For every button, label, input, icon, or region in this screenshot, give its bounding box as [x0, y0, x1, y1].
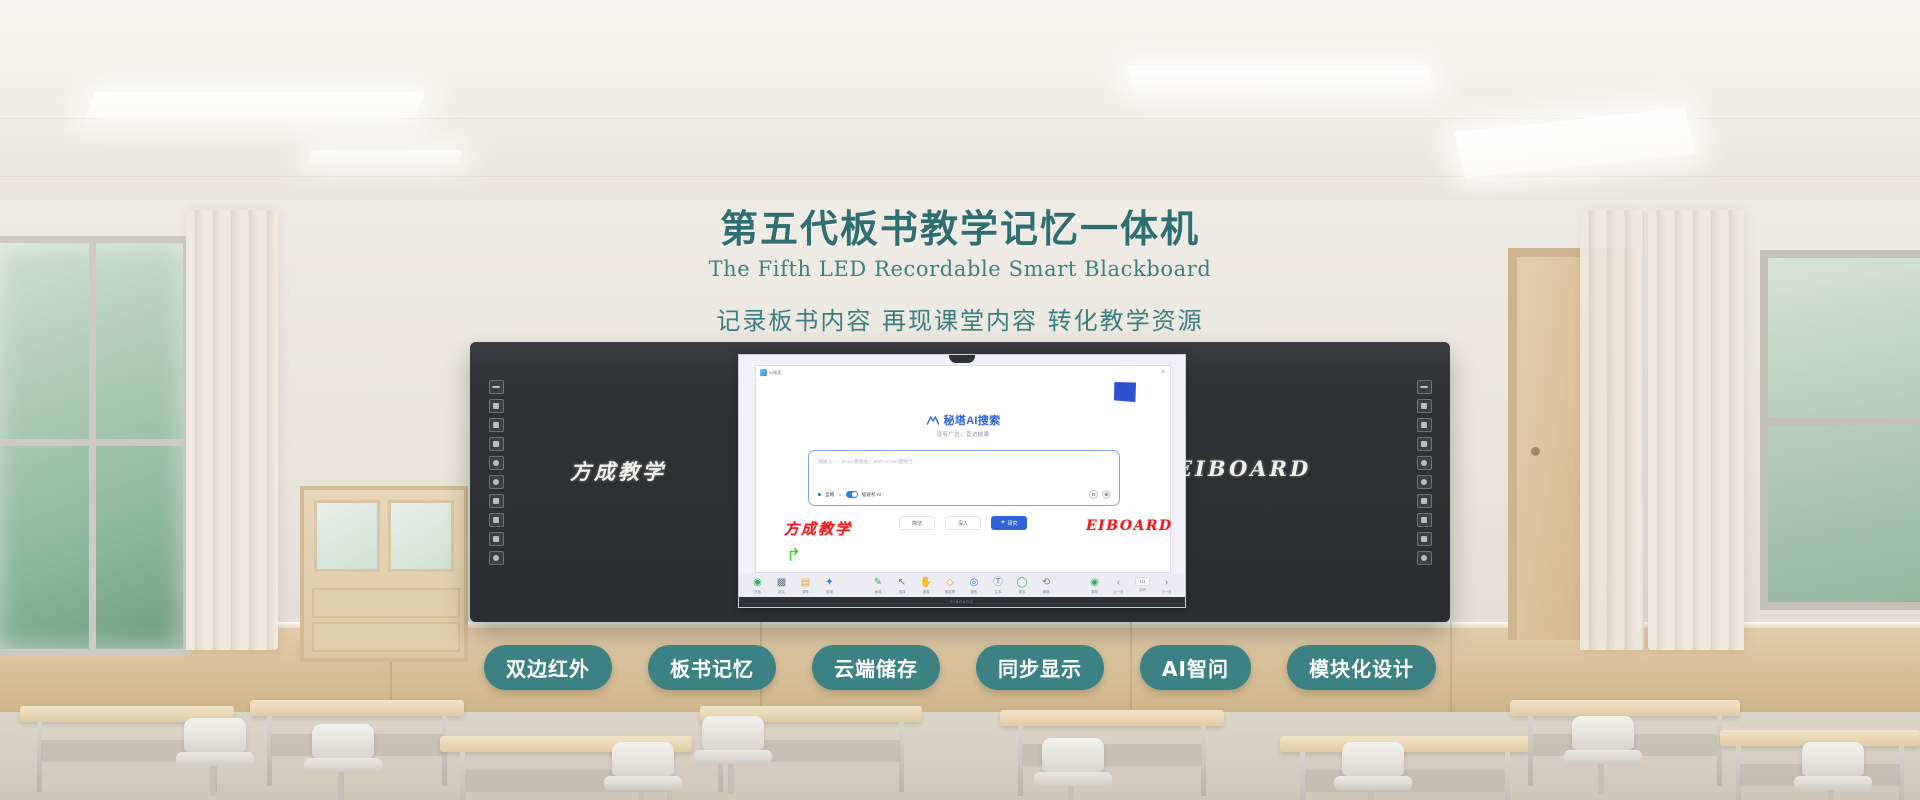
window-left [0, 236, 190, 656]
mode-button-research[interactable]: ✦ 研究 [991, 516, 1027, 530]
more-icon: ◯ [1016, 577, 1027, 588]
feature-pill-board-memory[interactable]: 板书记忆 [648, 645, 776, 690]
tool-record[interactable]: ◉ 录制 [1086, 577, 1103, 594]
chevron-down-icon[interactable]: ∨ [838, 492, 841, 498]
hand-icon: ✋ [920, 577, 932, 588]
feature-pill-cloud-storage[interactable]: 云端储存 [812, 645, 940, 690]
brand-tagline: 没有广告，直达结果 [756, 430, 1170, 438]
tool-label: 文本 [995, 589, 1002, 594]
camera-icon[interactable] [1089, 490, 1098, 499]
mode-button-research-label: 研究 [1008, 520, 1018, 527]
tool-eraser[interactable]: ◇ 橡皮擦 [942, 577, 959, 594]
tool-pen[interactable]: ✎ 画笔 [870, 577, 887, 594]
tool-label: 图形 [971, 589, 978, 594]
record-icon[interactable] [489, 456, 504, 470]
tool-annotate[interactable]: ▩ 批注 [773, 577, 790, 594]
tool-whiteboard[interactable]: ◉ 白板 [749, 577, 766, 594]
shape-icon: ◎ [970, 577, 979, 588]
browser-titlebar: AI搜索 × [756, 366, 1170, 379]
tool-label: 撤销 [1043, 589, 1050, 594]
tool-label: 录制 [1091, 589, 1098, 594]
tool-shape[interactable]: ◎ 图形 [966, 577, 983, 594]
red-annotation-cn: 方成教学 [784, 518, 852, 539]
page-indicator: 1/1 页码 [1134, 577, 1151, 592]
text-icon: Ⓣ [993, 577, 1003, 588]
tool-label: 批注 [778, 589, 785, 594]
scope-selector-label[interactable]: 全网 [825, 492, 834, 498]
pen-icon: ✎ [874, 577, 882, 588]
brand-name: 秘塔AI搜索 [944, 412, 1001, 428]
cursor-icon: ↖ [898, 577, 906, 588]
curtain-right [1648, 210, 1744, 650]
search-input[interactable]: 请输入…，Enter键发送，Shift+Enter键换行 全网 ∨ 极速考·AI [808, 450, 1120, 506]
tool-label: 漫游 [923, 589, 930, 594]
page-icon[interactable] [1417, 437, 1432, 451]
tool-label: 课件 [802, 589, 809, 594]
app-chip: AI搜索 [760, 369, 782, 376]
tool-label: 画笔 [875, 589, 882, 594]
chevron-right-icon: › [1165, 577, 1168, 588]
pen-alt-icon[interactable] [1417, 418, 1432, 432]
stop-icon[interactable] [489, 494, 504, 508]
record-alt-icon[interactable] [489, 475, 504, 489]
sparkle-icon: ✦ [1000, 520, 1005, 526]
blue-annotation-shape [1114, 382, 1136, 402]
apps-icon: ✦ [825, 577, 833, 588]
side-button-strip-left[interactable] [486, 380, 506, 565]
power-icon[interactable] [489, 551, 504, 565]
eraser-icon: ◇ [946, 577, 954, 588]
app-chip-label: AI搜索 [769, 370, 782, 376]
ceiling [0, 0, 1920, 230]
side-button-strip-right[interactable] [1414, 380, 1434, 565]
tool-label: 应用 [826, 589, 833, 594]
browser-window[interactable]: AI搜索 × 秘塔AI搜索 没有广告，直达结果 请输入…，Enter键发送，Sh… [755, 365, 1171, 573]
window-right [1760, 250, 1920, 610]
tool-select[interactable]: ↖ 选择 [894, 577, 911, 594]
undo-icon: ⟲ [1042, 577, 1050, 588]
metaso-logo-icon [926, 415, 940, 426]
embedded-display[interactable]: AI搜索 × 秘塔AI搜索 没有广告，直达结果 请输入…，Enter键发送，Sh… [738, 354, 1186, 608]
tool-courseware[interactable]: ▤ 课件 [797, 577, 814, 594]
prev-page-button[interactable]: ‹ 上一页 [1110, 577, 1127, 594]
mode-button-deep[interactable]: 深入 [945, 516, 981, 530]
feature-pill-dual-infrared[interactable]: 双边红外 [484, 645, 612, 690]
curtain-left [186, 210, 278, 650]
pen-alt-icon[interactable] [489, 418, 504, 432]
tool-label: 更多 [1019, 589, 1026, 594]
mode-dot-icon [818, 493, 821, 496]
power-icon[interactable] [1417, 551, 1432, 565]
red-annotation-en: EIBOARD [1086, 518, 1173, 534]
whiteboard-icon: ◉ [753, 577, 762, 588]
record-icon[interactable] [1417, 456, 1432, 470]
feature-pill-sync-display[interactable]: 同步显示 [976, 645, 1104, 690]
chalk-text-right: EIBOARD [1176, 456, 1311, 481]
ceiling-light-panel [85, 92, 426, 118]
feature-pill-modular-design[interactable]: 模块化设计 [1287, 645, 1436, 690]
ceiling-light-panel [308, 150, 463, 164]
search-placeholder: 请输入…，Enter键发送，Shift+Enter键换行 [818, 459, 913, 465]
toggle-label: 极速考·AI [862, 492, 882, 498]
save-icon[interactable] [489, 513, 504, 527]
camera-notch [949, 355, 975, 363]
display-mode-icon[interactable] [1417, 380, 1432, 394]
bezel-logo: EIBOARD [950, 600, 973, 604]
annotate-icon: ▩ [777, 577, 786, 588]
tool-label: 白板 [754, 589, 761, 594]
tool-text[interactable]: Ⓣ 文本 [990, 577, 1007, 594]
door-knob-icon [1531, 447, 1540, 456]
tool-undo[interactable]: ⟲ 撤销 [1038, 577, 1055, 594]
chevron-left-icon: ‹ [1117, 577, 1120, 588]
tool-label: 上一页 [1113, 589, 1123, 594]
brand-row: 秘塔AI搜索 [756, 412, 1170, 428]
classroom-scene: 第五代板书教学记忆一体机 The Fifth LED Recordable Sm… [0, 0, 1920, 800]
search-options-row: 全网 ∨ 极速考·AI [818, 490, 1111, 499]
tool-apps[interactable]: ✦ 应用 [821, 577, 838, 594]
tool-more[interactable]: ◯ 更多 [1014, 577, 1031, 594]
cabinet [300, 486, 468, 662]
next-page-button[interactable]: › 下一页 [1158, 577, 1175, 594]
page-icon[interactable] [489, 437, 504, 451]
screen-bezel-footer: EIBOARD [739, 597, 1185, 607]
settings-icon[interactable] [489, 532, 504, 546]
stop-icon[interactable] [1417, 494, 1432, 508]
toolbar-group-left[interactable]: ◉ 白板 ▩ 批注 ▤ 课件 ✦ 应用 [749, 577, 838, 594]
chalk-text-left: 方成教学 [570, 456, 666, 486]
mode-button-simple[interactable]: 简洁 [899, 516, 935, 530]
tool-label: 选择 [899, 589, 906, 594]
tool-label: 橡皮擦 [945, 589, 955, 594]
courseware-icon: ▤ [801, 577, 810, 588]
feature-pill-ai-ask[interactable]: AI智问 [1140, 645, 1251, 690]
settings-icon[interactable] [1417, 532, 1432, 546]
curtain-right-inner [1580, 210, 1644, 650]
app-logo-icon [760, 369, 767, 376]
fast-mode-toggle[interactable] [846, 491, 858, 498]
page-number: 1/1 [1135, 577, 1149, 586]
save-icon[interactable] [1417, 513, 1432, 527]
toolbar-group-right[interactable]: ◉ 录制 ‹ 上一页 1/1 页码 › 下一页 [1086, 577, 1175, 594]
tool-label: 下一页 [1161, 589, 1171, 594]
feature-pill-row: 双边红外 板书记忆 云端储存 同步显示 AI智问 模块化设计 [0, 645, 1920, 690]
pen-icon[interactable] [1417, 399, 1432, 413]
tool-label: 页码 [1139, 587, 1146, 592]
toolbar-group-center[interactable]: ✎ 画笔 ↖ 选择 ✋ 漫游 ◇ 橡皮擦 ◎ 图形 [870, 577, 1055, 594]
record-alt-icon[interactable] [1417, 475, 1432, 489]
whiteboard-toolbar[interactable]: ◉ 白板 ▩ 批注 ▤ 课件 ✦ 应用 ✎ 画 [739, 573, 1185, 597]
display-mode-icon[interactable] [489, 380, 504, 394]
tool-pan[interactable]: ✋ 漫游 [918, 577, 935, 594]
close-icon[interactable]: × [1161, 369, 1165, 376]
ceiling-light-panel [1127, 66, 1434, 90]
green-undo-stroke: ↰ [786, 546, 801, 564]
send-icon[interactable] [1102, 490, 1111, 499]
record-icon: ◉ [1090, 577, 1099, 588]
pen-icon[interactable] [489, 399, 504, 413]
